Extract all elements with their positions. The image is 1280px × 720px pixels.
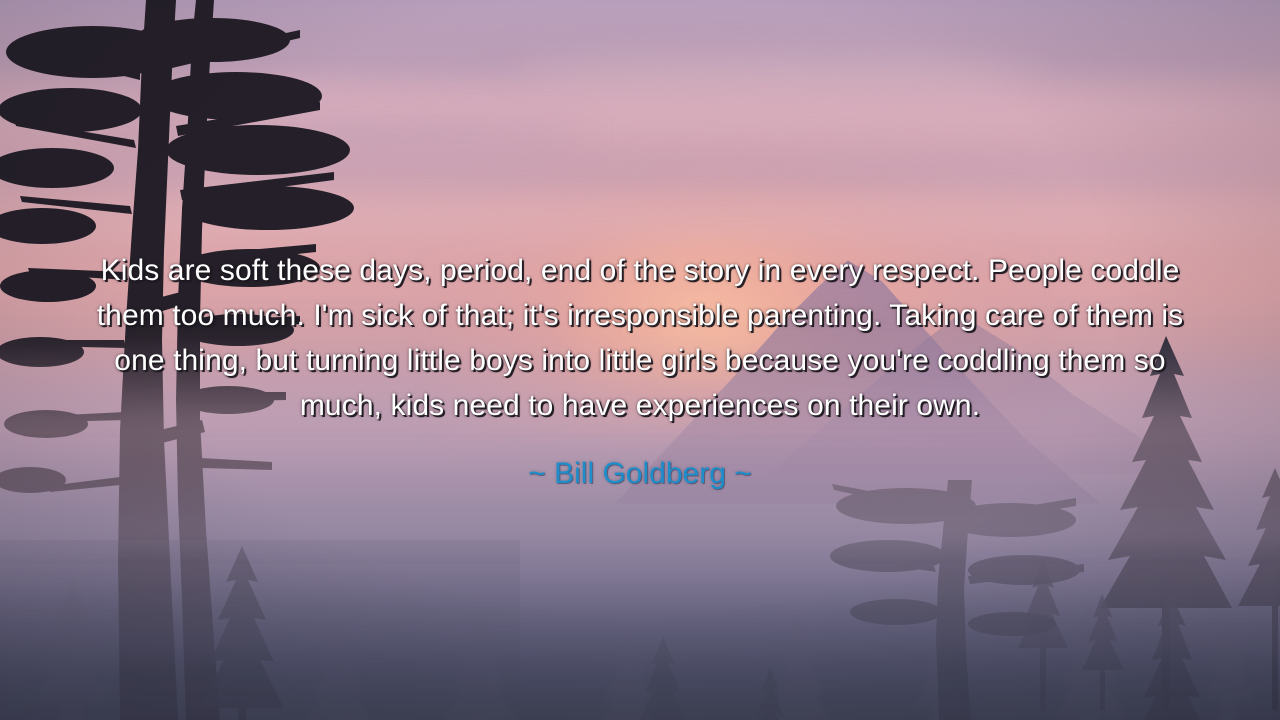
quote-image-canvas: Kids are soft these days, period, end of… bbox=[0, 0, 1280, 720]
quote-overlay: Kids are soft these days, period, end of… bbox=[0, 248, 1280, 493]
quote-attribution: ~ Bill Goldberg ~ bbox=[72, 455, 1208, 493]
quote-text: Kids are soft these days, period, end of… bbox=[72, 248, 1208, 428]
